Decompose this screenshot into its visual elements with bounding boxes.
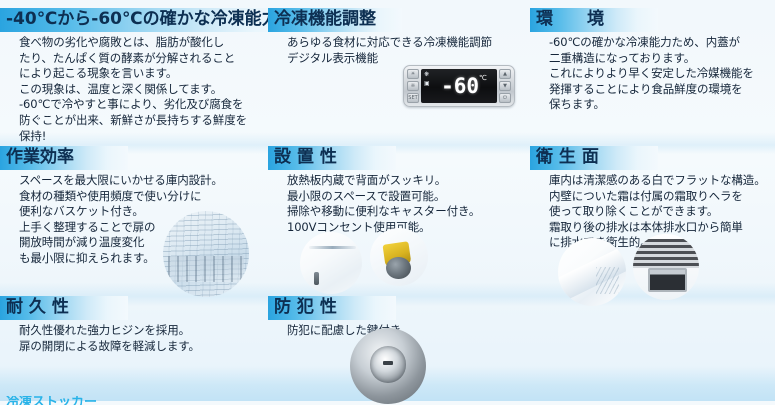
digital-temperature-controller[interactable]: ☀ ❊ SET ❋ ▣ -60 ℃ ▲ ▼ ⏻ [403, 65, 515, 107]
body-line: 内壁についた霜は付属の霜取りヘラを [549, 189, 775, 205]
body-line: 庫内は清潔感のある白でフラットな構造。 [549, 173, 775, 189]
snowflake-indicator-icon: ❋ [424, 72, 430, 78]
body-line: 便利なバスケット付き。 [19, 204, 268, 220]
section-header-installability: 設 置 性 [268, 146, 396, 170]
section-body-freezing-adjustment: あらゆる食材に対応できる冷凍機能調節 デジタル表示機能 [268, 32, 530, 66]
column-middle: 冷凍機能調整 あらゆる食材に対応できる冷凍機能調節 デジタル表示機能 ☀ ❊ S… [268, 0, 530, 401]
basket-photo [163, 211, 249, 297]
body-line: により起こる現象を言います。 [19, 66, 268, 82]
section-title: -40℃から-60℃の確かな冷凍能力 [6, 9, 279, 30]
interior-photo [558, 238, 626, 306]
body-line: 最小限のスペースで設置可能。 [287, 189, 530, 205]
section-hygiene: 衛 生 面 庫内は清潔感のある白でフラットな構造。 内壁についた霜は付属の霜取り… [530, 146, 775, 251]
section-title: 環 境 [536, 9, 632, 30]
section-title: 耐 久 性 [6, 297, 102, 318]
down-button[interactable]: ▼ [499, 81, 511, 91]
body-line: 食材の種類や使用頻度で使い分けに [19, 189, 268, 205]
body-line: 扉の開閉による故障を軽減します。 [19, 339, 268, 355]
up-button[interactable]: ▲ [499, 69, 511, 79]
feature-columns: -40℃から-60℃の確かな冷凍能力 食べ物の劣化や腐敗とは、脂肪が酸化し たり… [0, 0, 775, 401]
section-body-installability: 放熱板内蔵で背面がスッキリ。 最小限のスペースで設置可能。 掃除や移動に便利なキ… [268, 170, 530, 235]
caster-wheel-photo [370, 228, 428, 286]
controller-temperature-unit: ℃ [479, 74, 487, 82]
alarm-indicator-icon: ▣ [424, 81, 430, 87]
drain-outlet-photo [633, 234, 699, 300]
back-panel-photo [300, 232, 362, 294]
section-body-environment: -60℃の確かな冷凍能力ため、内蓋が 二重構造になっております。 これによりより… [530, 32, 775, 113]
body-line: この現象は、温度と深く関係してます。 [19, 82, 268, 98]
section-body-durability: 耐久性優れた強力ヒジンを採用。 扉の開閉による故障を軽減します。 [0, 320, 268, 354]
body-line: 二重構造になっております。 [549, 51, 775, 67]
section-installability: 設 置 性 放熱板内蔵で背面がスッキリ。 最小限のスペースで設置可能。 掃除や移… [268, 146, 530, 235]
section-body-freezing-power: 食べ物の劣化や腐敗とは、脂肪が酸化し たり、たんぱく質の酵素が分解されること に… [0, 32, 268, 144]
body-line: 霜取り後の排水は本体排水口から簡単 [549, 220, 775, 236]
section-freezing-power: -40℃から-60℃の確かな冷凍能力 食べ物の劣化や腐敗とは、脂肪が酸化し たり… [0, 8, 268, 144]
section-environment: 環 境 -60℃の確かな冷凍能力ため、内蓋が 二重構造になっております。 これに… [530, 8, 775, 113]
body-line: 食べ物の劣化や腐敗とは、脂肪が酸化し [19, 35, 268, 51]
body-line: 発揮することにより食品鮮度の環境を [549, 82, 775, 98]
controller-temperature-value: -60 [441, 76, 479, 97]
body-line: たり、たんぱく質の酵素が分解されること [19, 51, 268, 67]
section-title: 設 置 性 [274, 147, 370, 168]
body-line: これによりより早く安定した冷媒機能を [549, 66, 775, 82]
column-left: -40℃から-60℃の確かな冷凍能力 食べ物の劣化や腐敗とは、脂肪が酸化し たり… [0, 0, 268, 401]
body-line: 保持! [19, 129, 268, 145]
body-line: 耐久性優れた強力ヒジンを採用。 [19, 323, 268, 339]
section-header-work-efficiency: 作業効率 [0, 146, 128, 170]
body-line: デジタル表示機能 [287, 51, 530, 67]
controller-display: ❋ ▣ -60 ℃ [421, 69, 497, 103]
section-work-efficiency: 作業効率 スペースを最大限にいかせる庫内設計。 食材の種類や使用頻度で使い分けに… [0, 146, 268, 267]
section-header-environment: 環 境 [530, 8, 658, 32]
section-title: 冷凍機能調整 [274, 9, 376, 30]
body-line: 放熱板内蔵で背面がスッキリ。 [287, 173, 530, 189]
section-security: 防 犯 性 防犯に配慮した鍵付き。 [268, 296, 530, 339]
controller-indicator-icons: ❋ ▣ [424, 72, 430, 87]
body-line: 使って取り除くことができます。 [549, 204, 775, 220]
column-right: 環 境 -60℃の確かな冷凍能力ため、内蓋が 二重構造になっております。 これに… [530, 0, 775, 401]
controller-left-buttons[interactable]: ☀ ❊ SET [407, 69, 419, 103]
section-header-durability: 耐 久 性 [0, 296, 128, 320]
section-title: 防 犯 性 [274, 297, 370, 318]
section-header-freezing-power: -40℃から-60℃の確かな冷凍能力 [0, 8, 305, 32]
section-header-security: 防 犯 性 [268, 296, 396, 320]
lock-cylinder-photo [350, 328, 426, 404]
body-line: 防ぐことが出来、新鮮さが長持ちする鮮度を [19, 113, 268, 129]
body-line: 保ちます。 [549, 97, 775, 113]
controller-right-buttons[interactable]: ▲ ▼ ⏻ [499, 69, 511, 103]
section-header-freezing-adjustment: 冷凍機能調整 [268, 8, 402, 32]
body-line: あらゆる食材に対応できる冷凍機能調節 [287, 35, 530, 51]
body-line: 掃除や移動に便利なキャスター付き。 [287, 204, 530, 220]
body-line: -60℃の確かな冷凍能力ため、内蓋が [549, 35, 775, 51]
section-title: 衛 生 面 [536, 147, 632, 168]
section-title: 作業効率 [6, 147, 102, 168]
body-line: スペースを最大限にいかせる庫内設計。 [19, 173, 268, 189]
section-durability: 耐 久 性 耐久性優れた強力ヒジンを採用。 扉の開閉による故障を軽減します。 [0, 296, 268, 354]
body-line: -60℃で冷やすと事により、劣化及び腐食を [19, 97, 268, 113]
section-freezing-adjustment: 冷凍機能調整 あらゆる食材に対応できる冷凍機能調節 デジタル表示機能 ☀ ❊ S… [268, 8, 530, 66]
section-header-hygiene: 衛 生 面 [530, 146, 658, 170]
light-button[interactable]: ☀ [407, 69, 419, 79]
defrost-button[interactable]: ❊ [407, 81, 419, 91]
set-button[interactable]: SET [407, 93, 419, 103]
power-button[interactable]: ⏻ [499, 93, 511, 103]
